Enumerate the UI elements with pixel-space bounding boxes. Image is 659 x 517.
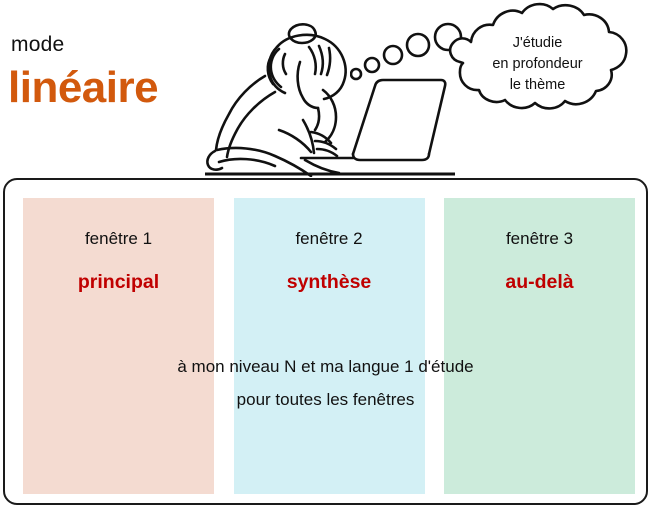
window-column-3[interactable]: fenêtre 3 au-delà bbox=[444, 198, 635, 494]
window-column-2-title: fenêtre 2 bbox=[234, 228, 425, 250]
window-column-3-name: au-delà bbox=[444, 270, 635, 294]
thought-bubble-line-3: le thème bbox=[455, 75, 620, 96]
header: mode linéaire bbox=[0, 0, 659, 175]
thought-bubble-text: J'étudie en profondeur le thème bbox=[455, 33, 620, 96]
window-column-1[interactable]: fenêtre 1 principal bbox=[23, 198, 214, 494]
thought-bubble-line-2: en profondeur bbox=[455, 54, 620, 75]
window-column-1-name: principal bbox=[23, 270, 214, 294]
thought-bubble-line-1: J'étudie bbox=[455, 33, 620, 54]
window-column-2-name: synthèse bbox=[234, 270, 425, 294]
window-columns: fenêtre 1 principal fenêtre 2 synthèse f… bbox=[23, 198, 635, 494]
window-column-2[interactable]: fenêtre 2 synthèse bbox=[234, 198, 425, 494]
window-column-1-title: fenêtre 1 bbox=[23, 228, 214, 250]
window-column-3-title: fenêtre 3 bbox=[444, 228, 635, 250]
mode-value: linéaire bbox=[8, 62, 158, 114]
mode-label: mode bbox=[11, 33, 64, 57]
windows-panel: fenêtre 1 principal fenêtre 2 synthèse f… bbox=[3, 178, 648, 505]
